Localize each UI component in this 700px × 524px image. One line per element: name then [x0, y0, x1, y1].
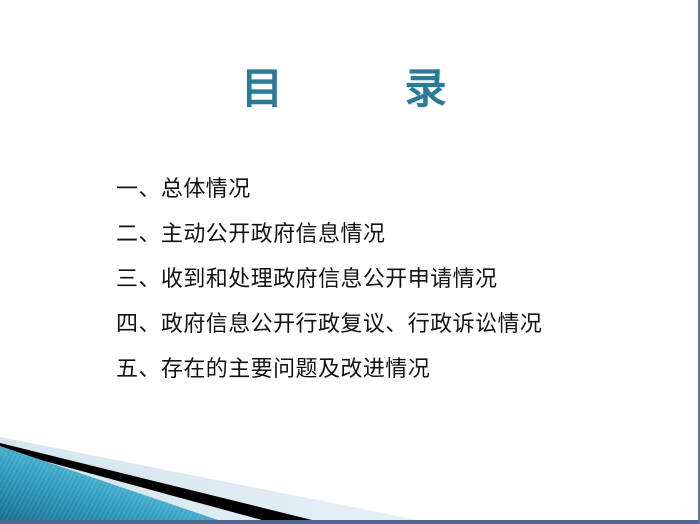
agenda-item-1: 一、总体情况: [116, 167, 676, 212]
agenda-item-2: 二、主动公开政府信息情况: [116, 212, 676, 257]
black-wedge: [0, 443, 312, 520]
agenda-item-4: 四、政府信息公开行政复议、行政诉讼情况: [116, 302, 676, 347]
presentation-slide: 目 录 一、总体情况 二、主动公开政府信息情况 三、收到和处理政府信息公开申请情…: [0, 0, 700, 524]
agenda-list: 一、总体情况 二、主动公开政府信息情况 三、收到和处理政府信息公开申请情况 四、…: [116, 167, 676, 392]
blue-triangle-texture: [0, 446, 218, 520]
page-title: 目 录: [241, 64, 459, 114]
bottom-rule: [0, 520, 700, 524]
agenda-item-3: 三、收到和处理政府信息公开申请情况: [116, 257, 676, 302]
corner-decoration-graphic: [0, 429, 700, 524]
blue-triangle: [0, 446, 218, 520]
light-triangle: [0, 437, 418, 520]
agenda-item-5: 五、存在的主要问题及改进情况: [116, 347, 676, 392]
title-block: 目 录: [0, 64, 700, 114]
